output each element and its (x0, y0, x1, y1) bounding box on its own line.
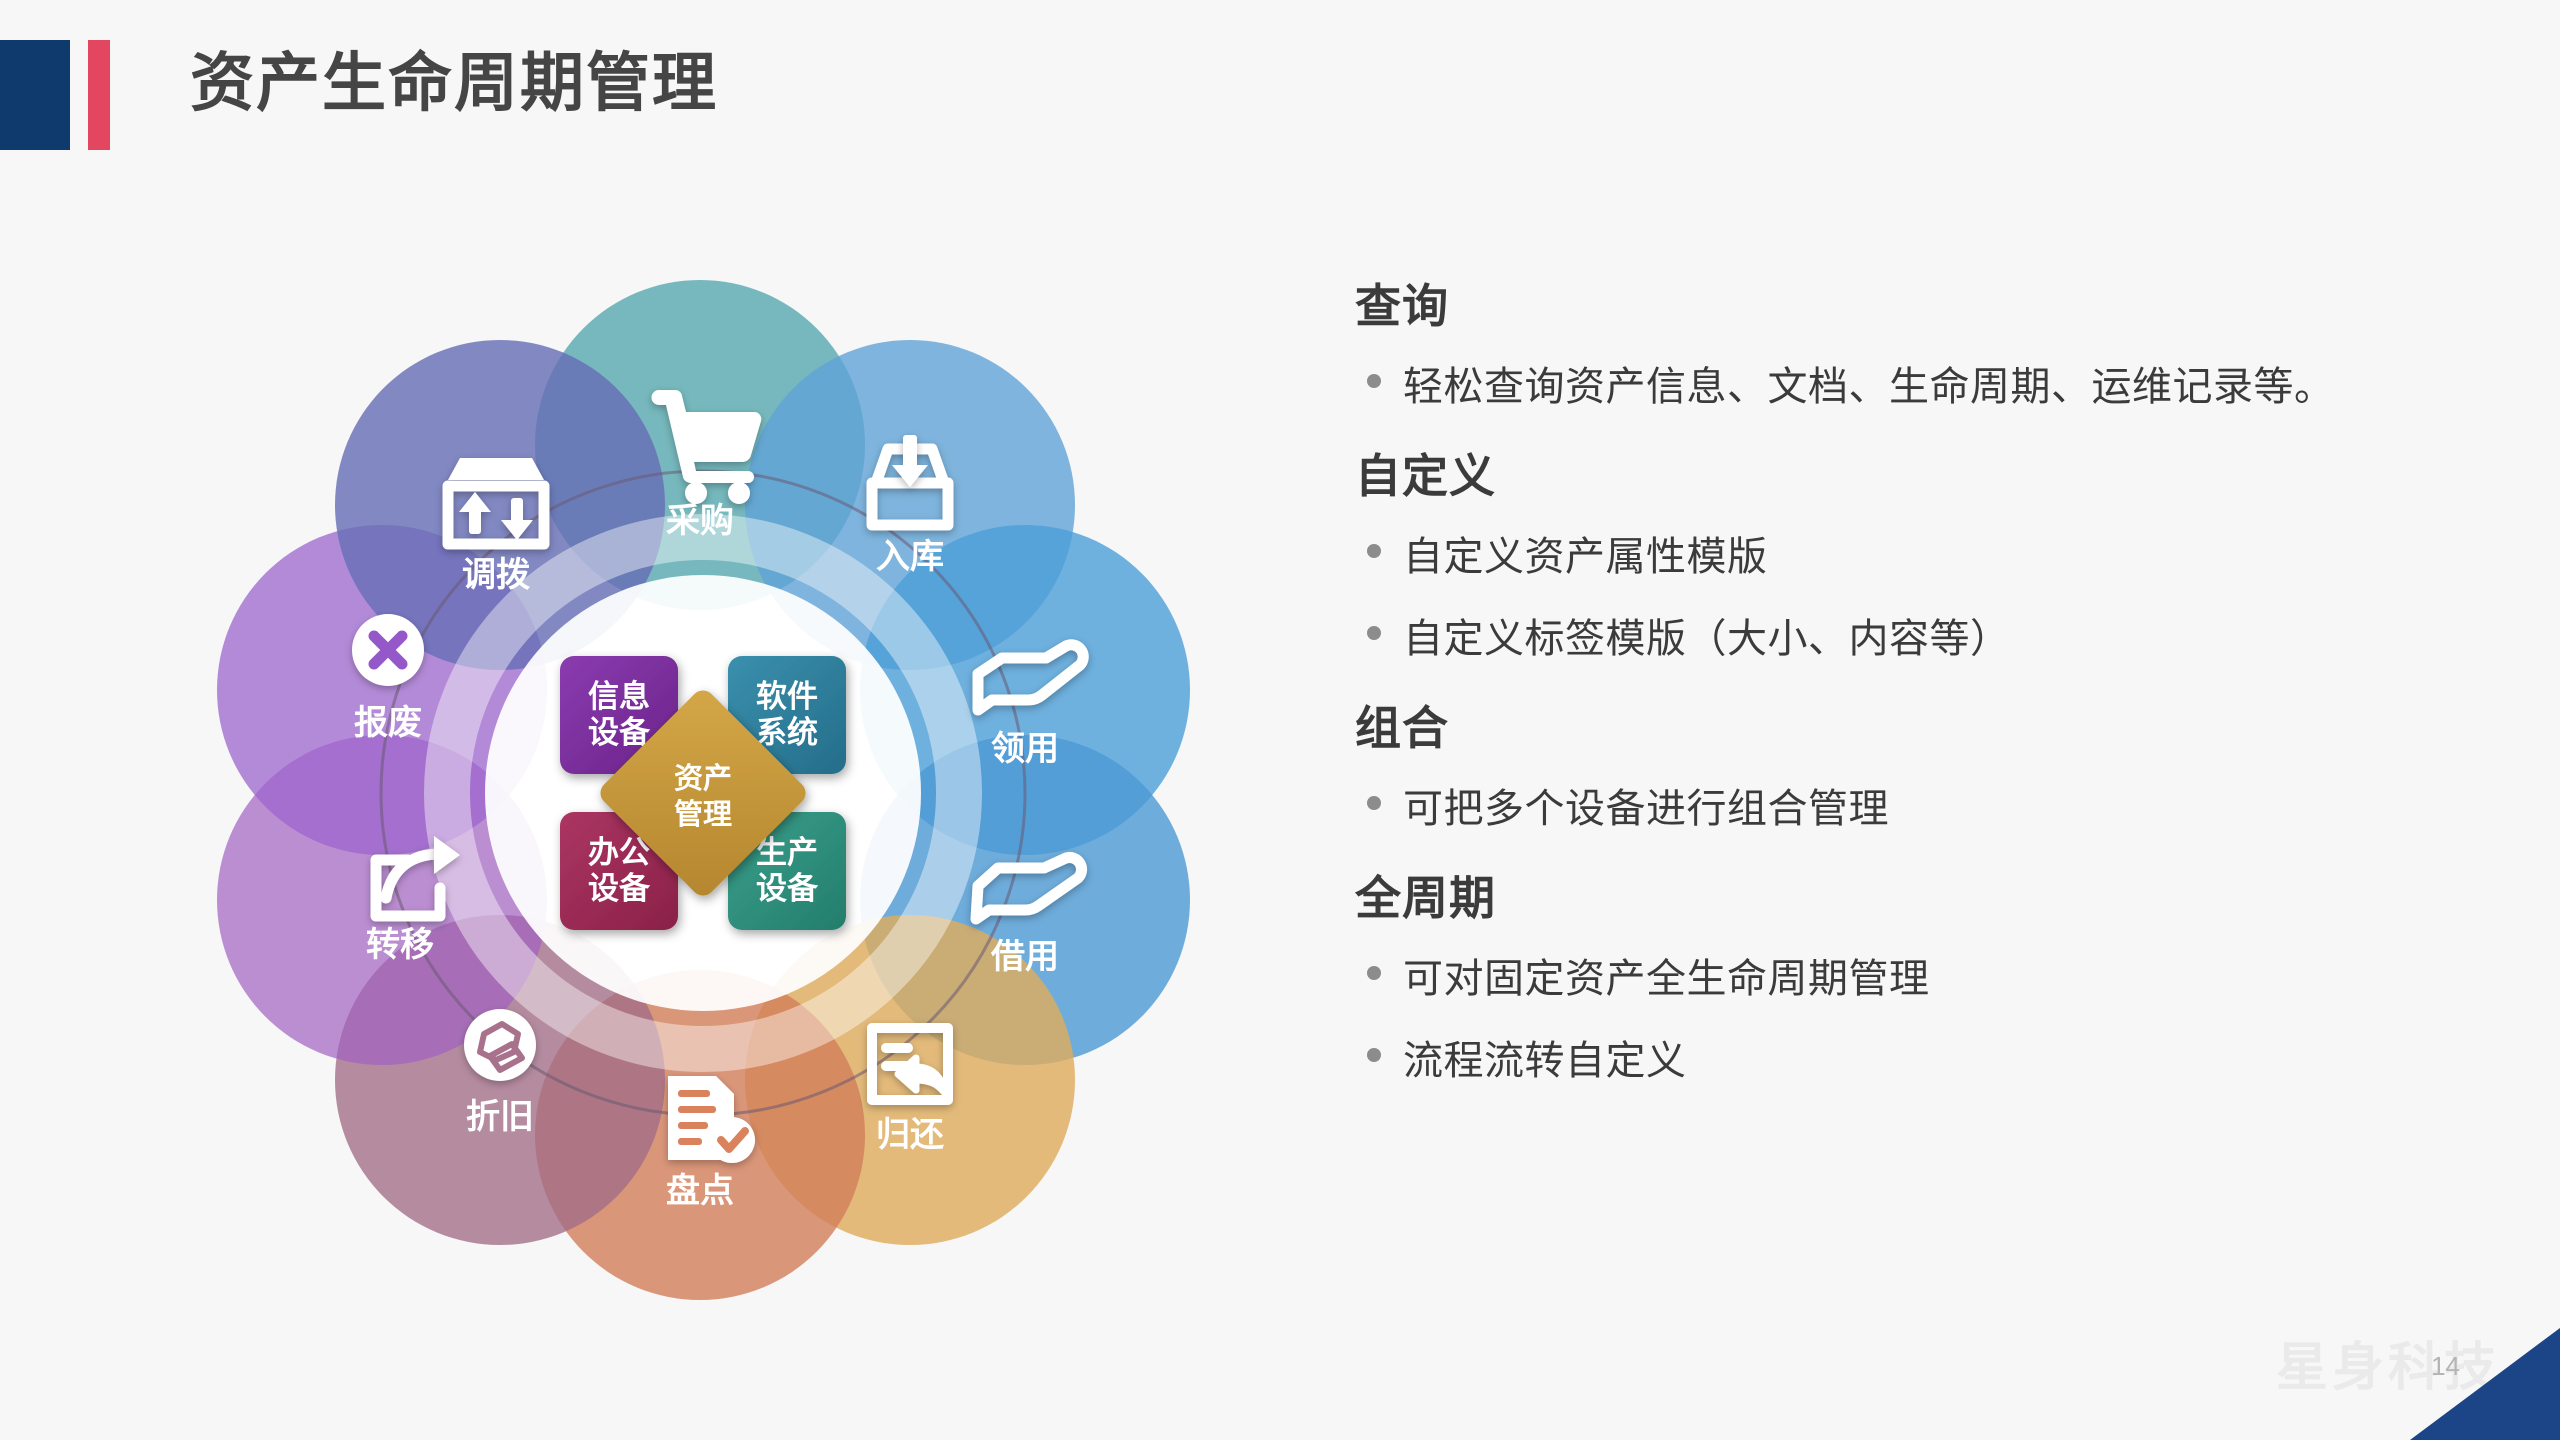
list-item: 自定义标签模版（大小、内容等） (1355, 610, 2505, 668)
asset-lifecycle-diagram: 信息 设备 软件 系统 办公 设备 生产 设备 资产 管理 (150, 250, 1250, 1300)
bullet-dot-icon (1367, 374, 1381, 388)
petal-label-lingyong: 领用 (991, 730, 1059, 768)
list-item: 可对固定资产全生命周期管理 (1355, 950, 2505, 1008)
petal-label-caigou: 采购 (666, 502, 734, 540)
petal-label-baofei: 报废 (354, 704, 422, 742)
bullet-text: 轻松查询资产信息、文档、生命周期、运维记录等。 (1403, 358, 2335, 416)
list-item: 流程流转自定义 (1355, 1032, 2505, 1090)
core-tile-production-line1: 生产 (756, 835, 818, 870)
petal-label-guihuan: 归还 (876, 1116, 945, 1154)
core-diamond-line1: 资产 (674, 762, 732, 795)
bullet-dot-icon (1367, 626, 1381, 640)
bullet-list: 轻松查询资产信息、文档、生命周期、运维记录等。 (1355, 358, 2505, 416)
header-navy-block (0, 40, 70, 150)
core-tile-office-line1: 办公 (588, 835, 650, 870)
core-tile-software-line2: 系统 (756, 715, 818, 750)
core-tile-office-line2: 设备 (588, 871, 651, 906)
bullet-text: 可把多个设备进行组合管理 (1403, 780, 1889, 838)
core-diamond-line2: 管理 (674, 797, 732, 831)
petal-label-zhuanyi: 转移 (366, 926, 434, 964)
feature-section-combine: 组合 可把多个设备进行组合管理 (1355, 692, 2505, 838)
bullet-dot-icon (1367, 544, 1381, 558)
bullet-list: 可对固定资产全生命周期管理 流程流转自定义 (1355, 950, 2505, 1090)
petal-label-jieyong: 借用 (990, 938, 1059, 976)
petal-label-pandian: 盘点 (666, 1172, 734, 1210)
feature-section-query: 查询 轻松查询资产信息、文档、生命周期、运维记录等。 (1355, 270, 2505, 416)
petal-label-ruku: 入库 (876, 538, 944, 576)
section-heading: 自定义 (1355, 440, 2505, 506)
bullet-list: 可把多个设备进行组合管理 (1355, 780, 2505, 838)
core-tile-production-line2: 设备 (756, 871, 819, 906)
petal-label-diaobo: 调拨 (462, 556, 530, 594)
bullet-list: 自定义资产属性模版 自定义标签模版（大小、内容等） (1355, 528, 2505, 668)
list-item: 可把多个设备进行组合管理 (1355, 780, 2505, 838)
page-title: 资产生命周期管理 (190, 48, 718, 118)
bullet-text: 流程流转自定义 (1403, 1032, 1687, 1090)
feature-list-panel: 查询 轻松查询资产信息、文档、生命周期、运维记录等。 自定义 自定义资产属性模版… (1355, 270, 2505, 1114)
core-tile-software-line1: 软件 (756, 679, 818, 714)
section-heading: 全周期 (1355, 862, 2505, 928)
corner-triangle-decoration (2410, 1328, 2560, 1440)
bullet-text: 可对固定资产全生命周期管理 (1403, 950, 1930, 1008)
bullet-dot-icon (1367, 966, 1381, 980)
depreciation-badge-icon (464, 1009, 536, 1081)
section-heading: 查询 (1355, 270, 2505, 336)
bullet-text: 自定义标签模版（大小、内容等） (1403, 610, 2011, 668)
core-tile-info-line1: 信息 (588, 679, 650, 714)
header-accent-bar (88, 40, 110, 150)
feature-section-custom: 自定义 自定义资产属性模版 自定义标签模版（大小、内容等） (1355, 440, 2505, 668)
bullet-dot-icon (1367, 1048, 1381, 1062)
bullet-dot-icon (1367, 796, 1381, 810)
petal-label-zhejiu: 折旧 (466, 1098, 534, 1136)
close-x-icon (352, 614, 424, 686)
section-heading: 组合 (1355, 692, 2505, 758)
slide-header: 资产生命周期管理 (0, 0, 2560, 190)
feature-section-lifecycle: 全周期 可对固定资产全生命周期管理 流程流转自定义 (1355, 862, 2505, 1090)
core-tile-info-line2: 设备 (588, 715, 651, 750)
bullet-text: 自定义资产属性模版 (1403, 528, 1768, 586)
list-item: 轻松查询资产信息、文档、生命周期、运维记录等。 (1355, 358, 2505, 416)
list-item: 自定义资产属性模版 (1355, 528, 2505, 586)
